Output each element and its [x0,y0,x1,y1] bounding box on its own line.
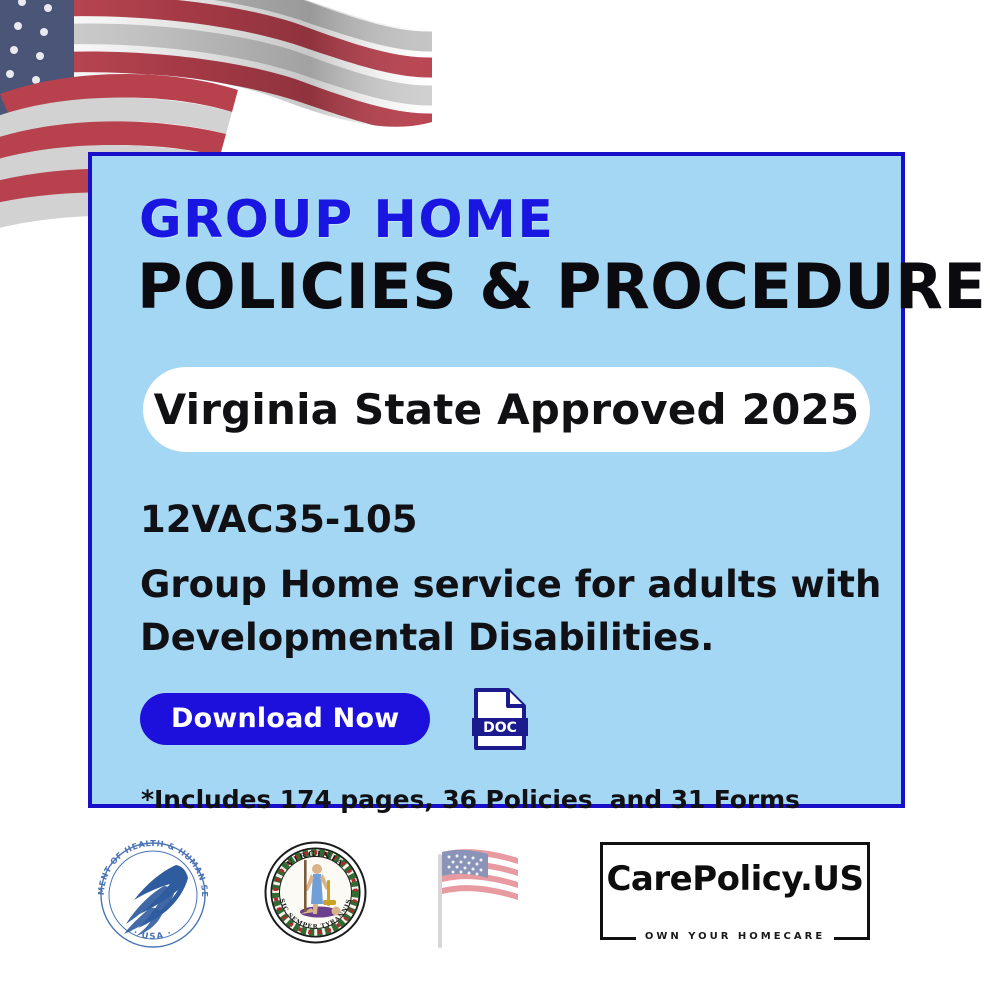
offer-card: GROUP HOME POLICIES & PROCEDURES Virgini… [88,152,905,808]
poster-root: GROUP HOME POLICIES & PROCEDURES Virgini… [0,0,990,990]
footer-logos: DEPARTMENT OF HEALTH & HUMAN SERVICES · … [0,826,990,966]
description-line-1: Group Home service for adults with [140,559,863,612]
doc-file-icon[interactable]: DOC [472,688,528,750]
regulation-code: 12VAC35-105 [140,497,863,543]
description-line-2: Developmental Disabilities. [140,612,863,665]
doc-icon-label: DOC [483,720,517,736]
carepolicy-tagline: OWN YOUR HOMECARE [636,932,834,942]
approval-badge-label: Virginia State Approved 2025 [154,385,860,434]
includes-footnote: *Includes 174 pages, 36 Policies and 31 … [141,785,863,814]
page-title-primary: GROUP HOME [139,194,863,246]
download-now-button[interactable]: Download Now [140,693,430,745]
virginia-seal-icon: VIRGINIA SIC SEMPER TYRANNIS [263,840,368,945]
page-title-secondary: POLICIES & PROCEDURES [137,254,863,319]
carepolicy-brand-name: CarePolicy.US [603,859,867,899]
carepolicy-logo[interactable]: CarePolicy.US OWN YOUR HOMECARE [600,842,870,940]
description-block: 12VAC35-105 Group Home service for adult… [140,497,863,664]
carepolicy-tagline-wrap: OWN YOUR HOMECARE [600,928,870,946]
cta-row: Download Now DOC [140,688,863,750]
us-flag-icon [418,836,533,951]
approval-badge: Virginia State Approved 2025 [143,367,870,452]
hhs-seal-icon: DEPARTMENT OF HEALTH & HUMAN SERVICES · … [92,834,214,956]
